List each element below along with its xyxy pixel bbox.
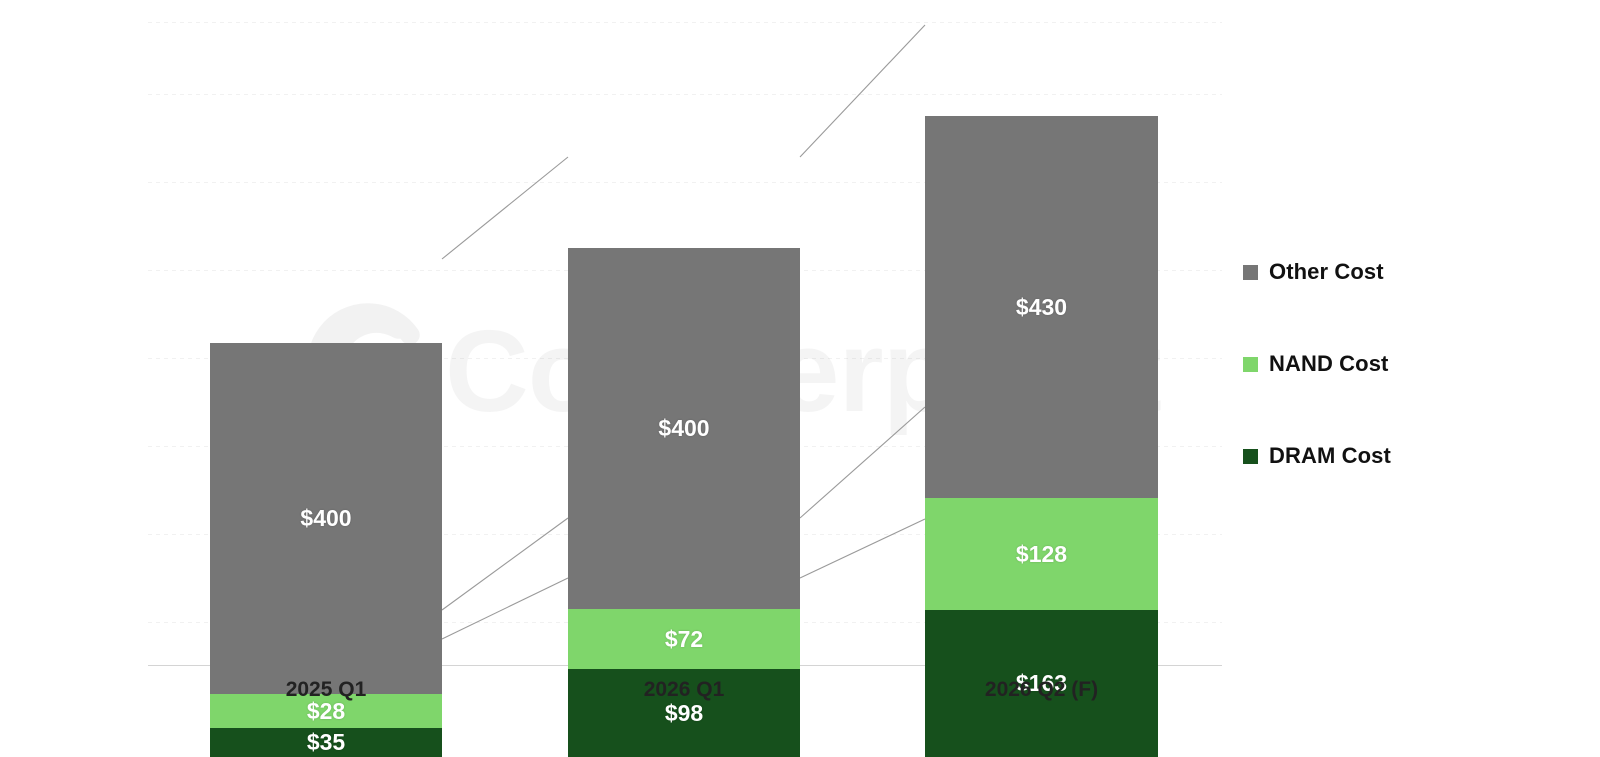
legend-swatch-nand-cost (1243, 357, 1258, 372)
legend-label: DRAM Cost (1269, 443, 1391, 469)
bar-segment-nand-cost[interactable]: $72 (568, 609, 800, 669)
bar-segment-other-cost[interactable]: $430 (925, 116, 1158, 498)
gridline (148, 22, 1222, 23)
stacked-bar-chart: Counterpoint $400 $28 $35 (0, 0, 1600, 757)
bar-segment-other-cost[interactable]: $400 (568, 248, 800, 609)
x-axis-label-2025-q1: 2025 Q1 (210, 678, 442, 702)
bar-segment-other-cost[interactable]: $400 (210, 343, 442, 694)
legend-item-dram-cost[interactable]: DRAM Cost (1243, 443, 1391, 469)
segment-value-label: $35 (307, 729, 345, 756)
legend-swatch-other-cost (1243, 265, 1258, 280)
bar-segment-dram-cost[interactable]: $35 (210, 728, 442, 757)
segment-value-label: $128 (1016, 541, 1067, 568)
segment-value-label: $400 (300, 505, 351, 532)
x-axis-label-2026-q1: 2026 Q1 (568, 678, 800, 702)
bar-segment-nand-cost[interactable]: $128 (925, 498, 1158, 610)
bar-2026-q2-f[interactable]: $430 $128 $163 (925, 116, 1158, 757)
segment-value-label: $72 (665, 626, 703, 653)
chart-legend: Other Cost NAND Cost DRAM Cost (1243, 0, 1573, 757)
legend-swatch-dram-cost (1243, 449, 1258, 464)
x-axis-label-2026-q2-f: 2026 Q2 (F) (925, 678, 1158, 702)
legend-label: Other Cost (1269, 259, 1384, 285)
legend-item-other-cost[interactable]: Other Cost (1243, 259, 1384, 285)
segment-value-label: $430 (1016, 294, 1067, 321)
legend-label: NAND Cost (1269, 351, 1388, 377)
segment-value-label: $400 (658, 415, 709, 442)
segment-value-label: $98 (665, 700, 703, 727)
legend-item-nand-cost[interactable]: NAND Cost (1243, 351, 1388, 377)
gridline (148, 94, 1222, 95)
